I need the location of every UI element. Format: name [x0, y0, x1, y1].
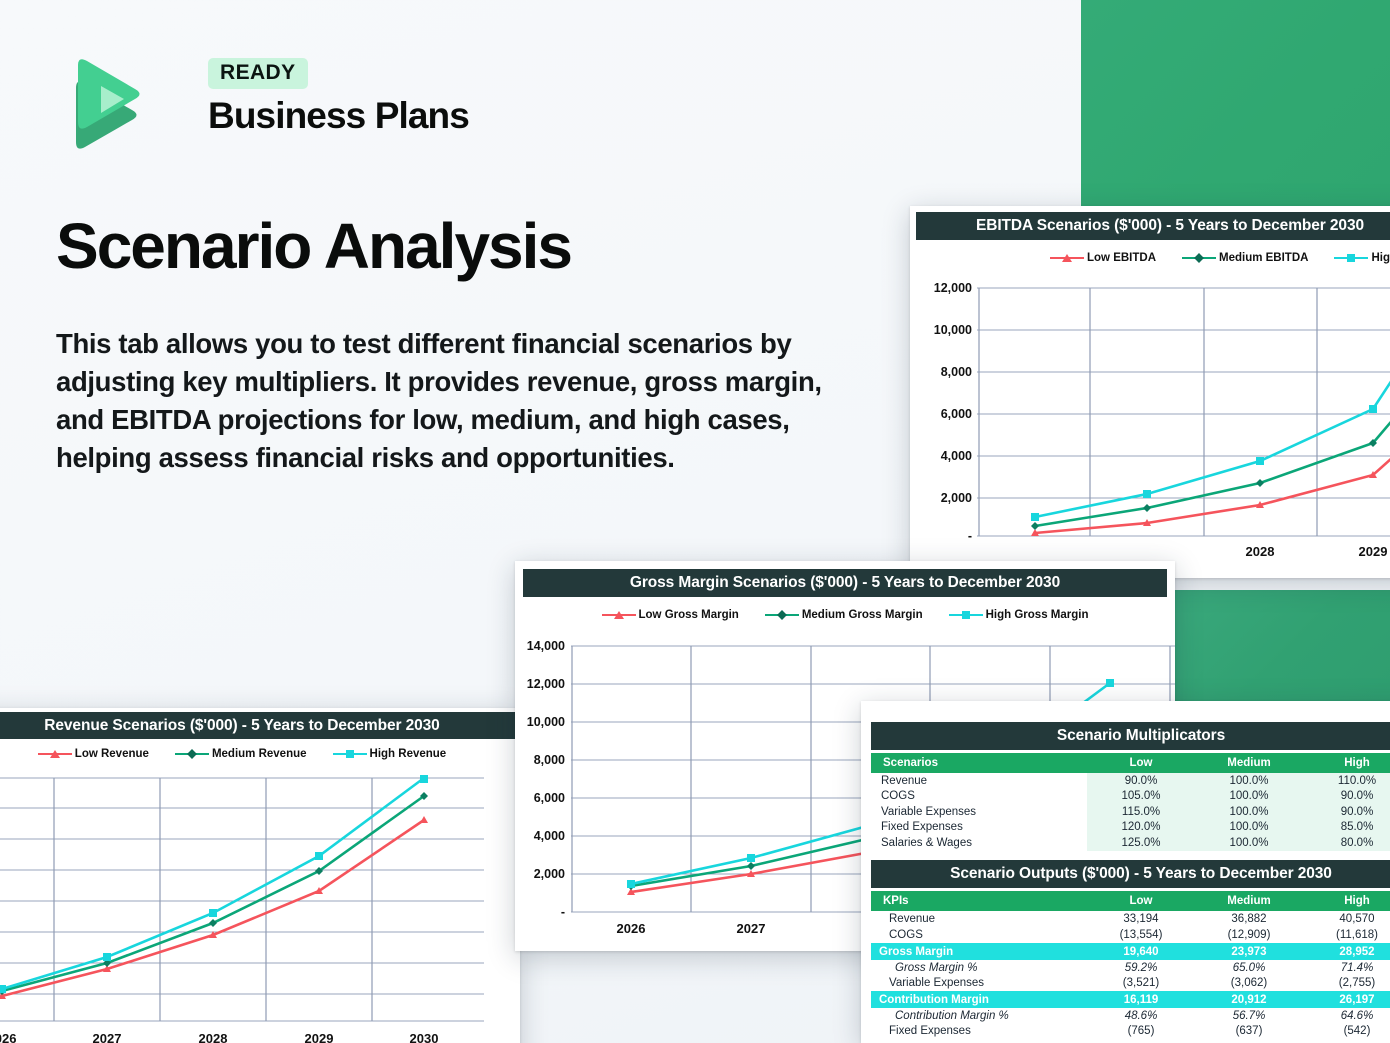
- column-header-scenarios: Scenarios: [871, 753, 1087, 773]
- row-label: Salaries & Wages: [871, 835, 1087, 851]
- table-row: Revenue 90.0% 100.0% 110.0%: [871, 773, 1390, 789]
- ebitda-chart-panel: EBITDA Scenarios ($'000) - 5 Years to De…: [910, 206, 1390, 578]
- gross-margin-y-axis-labels: 14,000 12,000 10,000 8,000 6,000 4,000 2…: [515, 641, 565, 915]
- scenario-multiplicators-title: Scenario Multiplicators: [871, 722, 1390, 750]
- outputs-header-row: KPIs Low Medium High: [871, 891, 1390, 911]
- row-label: Revenue: [871, 911, 1087, 928]
- cell-low: (3,521): [1087, 976, 1195, 992]
- x-tick-label: 2029: [305, 1031, 334, 1043]
- y-tick-label: 10,000: [527, 715, 565, 729]
- y-tick-label: 2,000: [941, 491, 972, 505]
- cell-high: 80.0%: [1303, 835, 1390, 851]
- x-tick-label: 2027: [93, 1031, 122, 1043]
- table-row-contribution-margin: Contribution Margin 16,119 20,912 26,197: [871, 991, 1390, 1008]
- legend-marker-diamond-icon: [765, 614, 799, 617]
- y-tick-label: 4,000: [534, 829, 565, 843]
- legend-label: High Revenue: [370, 748, 447, 760]
- column-header-kpis: KPIs: [871, 891, 1087, 911]
- legend-marker-triangle-icon: [38, 753, 72, 756]
- ebitda-chart-area: 12,000 10,000 8,000 6,000 4,000 2,000 -: [910, 284, 1390, 578]
- cell-low: (765): [1087, 1024, 1195, 1040]
- ebitda-chart-legend: Low EBITDA Medium EBITDA High EBITDA: [910, 247, 1390, 269]
- brand-name: Business Plans: [208, 95, 469, 137]
- y-tick-label: -: [968, 529, 972, 543]
- cell-low: 105.0%: [1087, 789, 1195, 805]
- table-row: COGS (13,554) (12,909) (11,618): [871, 928, 1390, 944]
- cell-low: 33,194: [1087, 911, 1195, 928]
- cell-medium: 100.0%: [1195, 789, 1303, 805]
- revenue-x-axis-labels: 2026 2027 2028 2029 2030: [0, 1031, 484, 1043]
- x-tick-label: 2026: [617, 921, 646, 936]
- cell-low: 90.0%: [1087, 773, 1195, 789]
- y-tick-label: -: [561, 905, 565, 919]
- x-tick-label: 2028: [1246, 544, 1275, 559]
- cell-medium: 100.0%: [1195, 835, 1303, 851]
- legend-item-high-ebitda: High EBITDA: [1334, 252, 1390, 264]
- y-tick-label: 14,000: [527, 639, 565, 653]
- row-label: Fixed Expenses: [871, 820, 1087, 836]
- legend-label: Medium Gross Margin: [802, 609, 923, 621]
- legend-label: Low EBITDA: [1087, 252, 1156, 264]
- table-row: Contribution Margin % 48.6% 56.7% 64.6%: [871, 1008, 1390, 1024]
- page-description: This tab allows you to test different fi…: [56, 325, 856, 477]
- cell-high: (2,755): [1303, 976, 1390, 992]
- y-tick-label: 6,000: [941, 407, 972, 421]
- table-row: Fixed Expenses 120.0% 100.0% 85.0%: [871, 820, 1390, 836]
- scenario-multiplicators-table: Scenarios Low Medium High Revenue 90.0% …: [871, 753, 1390, 851]
- x-tick-label: 2026: [0, 1031, 16, 1043]
- scenario-tables-panel: Scenario Multiplicators Scenarios Low Me…: [861, 701, 1390, 1043]
- gross-margin-chart-legend: Low Gross Margin Medium Gross Margin Hig…: [515, 604, 1175, 626]
- revenue-plot-svg: [0, 773, 484, 1023]
- row-label: COGS: [871, 928, 1087, 944]
- legend-item-medium-ebitda: Medium EBITDA: [1182, 252, 1308, 264]
- table-row: Variable Expenses 115.0% 100.0% 90.0%: [871, 804, 1390, 820]
- revenue-plot: [0, 773, 484, 1023]
- legend-item-medium-gross-margin: Medium Gross Margin: [765, 609, 923, 621]
- cell-high: 28,952: [1303, 943, 1390, 960]
- legend-label: Medium Revenue: [212, 748, 307, 760]
- ebitda-plot: [977, 284, 1390, 540]
- decorative-green-block-top-right: [1081, 0, 1390, 206]
- legend-marker-square-icon: [949, 614, 983, 617]
- legend-label: Medium EBITDA: [1219, 252, 1308, 264]
- legend-marker-square-icon: [1334, 257, 1368, 260]
- cell-medium: 56.7%: [1195, 1008, 1303, 1024]
- decorative-green-block-middle-right: [1168, 590, 1390, 701]
- legend-marker-diamond-icon: [175, 753, 209, 756]
- cell-high: 90.0%: [1303, 789, 1390, 805]
- row-label: Gross Margin: [871, 943, 1087, 960]
- table-row: COGS 105.0% 100.0% 90.0%: [871, 789, 1390, 805]
- y-tick-label: 6,000: [534, 791, 565, 805]
- column-header-medium: Medium: [1195, 891, 1303, 911]
- legend-marker-square-icon: [333, 753, 367, 756]
- cell-low: 19,640: [1087, 943, 1195, 960]
- cell-high: 85.0%: [1303, 820, 1390, 836]
- cell-high: 64.6%: [1303, 1008, 1390, 1024]
- legend-item-low-gross-margin: Low Gross Margin: [602, 609, 739, 621]
- column-header-low: Low: [1087, 753, 1195, 773]
- cell-low: 120.0%: [1087, 820, 1195, 836]
- row-label: Gross Margin %: [871, 960, 1087, 976]
- legend-marker-triangle-icon: [602, 614, 636, 617]
- gross-margin-chart-title: Gross Margin Scenarios ($'000) - 5 Years…: [523, 569, 1167, 597]
- legend-marker-triangle-icon: [1050, 257, 1084, 260]
- table-row: Salaries & Wages 125.0% 100.0% 80.0%: [871, 835, 1390, 851]
- page-title: Scenario Analysis: [56, 209, 571, 283]
- cell-medium: 20,912: [1195, 991, 1303, 1008]
- cell-high: (11,618): [1303, 928, 1390, 944]
- cell-high: 90.0%: [1303, 804, 1390, 820]
- row-label: Contribution Margin: [871, 991, 1087, 1008]
- table-row-gross-margin: Gross Margin 19,640 23,973 28,952: [871, 943, 1390, 960]
- y-tick-label: 4,000: [941, 449, 972, 463]
- legend-item-medium-revenue: Medium Revenue: [175, 748, 307, 760]
- revenue-chart-legend: Low Revenue Medium Revenue High Revenue: [0, 743, 520, 765]
- column-header-high: High: [1303, 891, 1390, 911]
- row-label: Fixed Expenses: [871, 1024, 1087, 1040]
- cell-high: 40,570: [1303, 911, 1390, 928]
- cell-medium: 100.0%: [1195, 773, 1303, 789]
- cell-low: 115.0%: [1087, 804, 1195, 820]
- row-label: COGS: [871, 789, 1087, 805]
- cell-medium: (12,909): [1195, 928, 1303, 944]
- revenue-chart-area: 2026 2027 2028 2029 2030: [0, 773, 520, 1043]
- x-tick-label: 2029: [1359, 544, 1388, 559]
- legend-item-high-revenue: High Revenue: [333, 748, 447, 760]
- table-row: Fixed Expenses (765) (637) (542): [871, 1024, 1390, 1040]
- legend-item-low-ebitda: Low EBITDA: [1050, 252, 1156, 264]
- cell-high: (542): [1303, 1024, 1390, 1040]
- row-label: Variable Expenses: [871, 976, 1087, 992]
- ebitda-chart-title: EBITDA Scenarios ($'000) - 5 Years to De…: [916, 212, 1390, 240]
- legend-marker-diamond-icon: [1182, 257, 1216, 260]
- cell-high: 26,197: [1303, 991, 1390, 1008]
- legend-label: High Gross Margin: [986, 609, 1089, 621]
- column-header-high: High: [1303, 753, 1390, 773]
- play-triangle-logo-icon: [56, 56, 144, 156]
- legend-label: Low Revenue: [75, 748, 149, 760]
- table-row: Revenue 33,194 36,882 40,570: [871, 911, 1390, 928]
- column-header-medium: Medium: [1195, 753, 1303, 773]
- table-row: Gross Margin % 59.2% 65.0% 71.4%: [871, 960, 1390, 976]
- cell-medium: 100.0%: [1195, 804, 1303, 820]
- cell-high: 110.0%: [1303, 773, 1390, 789]
- x-tick-label: 2030: [410, 1031, 439, 1043]
- cell-low: 48.6%: [1087, 1008, 1195, 1024]
- x-tick-label: 2027: [737, 921, 766, 936]
- row-label: Contribution Margin %: [871, 1008, 1087, 1024]
- y-tick-label: 8,000: [941, 365, 972, 379]
- cell-medium: 100.0%: [1195, 820, 1303, 836]
- cell-medium: 65.0%: [1195, 960, 1303, 976]
- y-tick-label: 12,000: [934, 281, 972, 295]
- x-tick-label: 2028: [199, 1031, 228, 1043]
- ebitda-y-axis-labels: 12,000 10,000 8,000 6,000 4,000 2,000 -: [910, 284, 972, 540]
- row-label: Revenue: [871, 773, 1087, 789]
- cell-medium: (3,062): [1195, 976, 1303, 992]
- column-header-low: Low: [1087, 891, 1195, 911]
- cell-low: 125.0%: [1087, 835, 1195, 851]
- brand-text-block: READY Business Plans: [208, 58, 469, 137]
- row-label: Variable Expenses: [871, 804, 1087, 820]
- cell-high: 71.4%: [1303, 960, 1390, 976]
- legend-item-high-gross-margin: High Gross Margin: [949, 609, 1089, 621]
- cell-medium: (637): [1195, 1024, 1303, 1040]
- legend-label: Low Gross Margin: [639, 609, 739, 621]
- y-tick-label: 10,000: [934, 323, 972, 337]
- cell-medium: 23,973: [1195, 943, 1303, 960]
- brand-logo: READY Business Plans: [56, 56, 436, 160]
- multiplicators-header-row: Scenarios Low Medium High: [871, 753, 1390, 773]
- revenue-chart-panel: Revenue Scenarios ($'000) - 5 Years to D…: [0, 708, 520, 1043]
- ready-badge: READY: [208, 58, 308, 89]
- cell-medium: 36,882: [1195, 911, 1303, 928]
- table-row: Variable Expenses (3,521) (3,062) (2,755…: [871, 976, 1390, 992]
- y-tick-label: 8,000: [534, 753, 565, 767]
- cell-low: 59.2%: [1087, 960, 1195, 976]
- legend-item-low-revenue: Low Revenue: [38, 748, 149, 760]
- ebitda-plot-svg: [977, 284, 1390, 540]
- revenue-chart-title: Revenue Scenarios ($'000) - 5 Years to D…: [0, 712, 516, 739]
- scenario-outputs-title: Scenario Outputs ($'000) - 5 Years to De…: [871, 860, 1390, 888]
- cell-low: 16,119: [1087, 991, 1195, 1008]
- y-tick-label: 2,000: [534, 867, 565, 881]
- y-tick-label: 12,000: [527, 677, 565, 691]
- legend-label: High EBITDA: [1371, 252, 1390, 264]
- cell-low: (13,554): [1087, 928, 1195, 944]
- scenario-outputs-table: KPIs Low Medium High Revenue 33,194 36,8…: [871, 891, 1390, 1040]
